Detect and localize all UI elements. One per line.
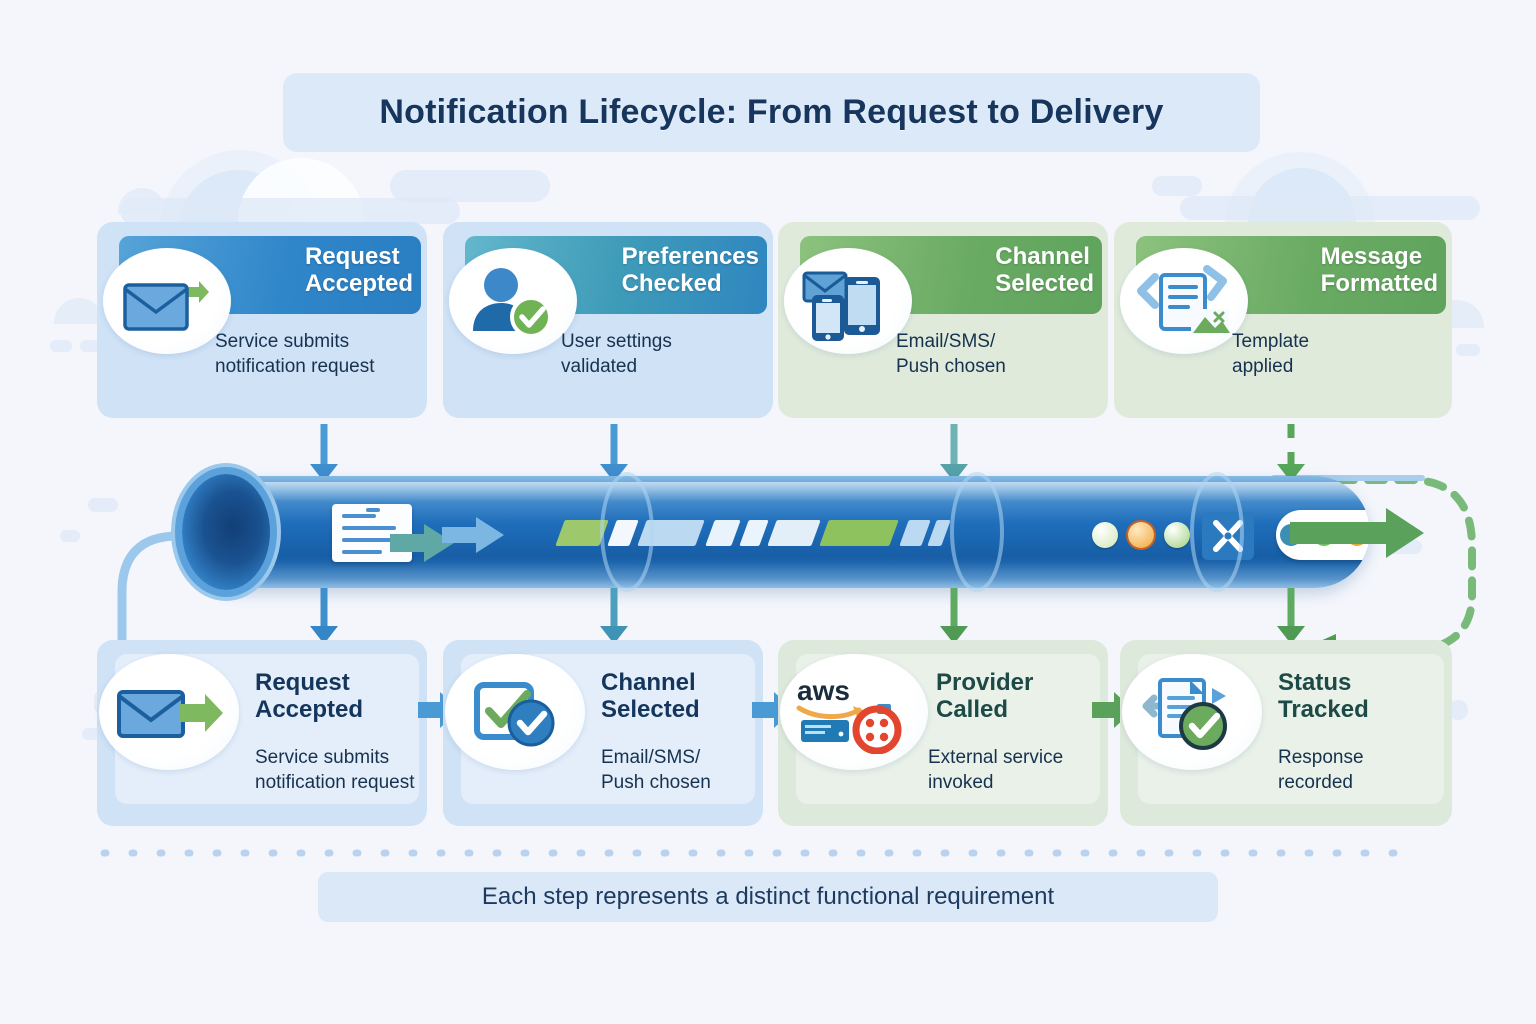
card-subtitle: Email/SMS/ Push chosen xyxy=(601,746,753,795)
card-subtitle: Service submits notification request xyxy=(215,330,415,379)
pipeline-segment xyxy=(705,520,740,546)
forward-arrow-icon xyxy=(442,514,506,556)
envelope-left-arrow-icon xyxy=(103,248,231,354)
pipeline-segment xyxy=(927,520,950,546)
pipeline-segment xyxy=(739,520,768,546)
card-subtitle: Service submits notification request xyxy=(255,746,417,795)
step-card-message-formatted[interactable]: Message Formatted Template applied xyxy=(1114,222,1452,418)
document-image-icon xyxy=(1120,248,1248,354)
card-subtitle: Template applied xyxy=(1232,330,1440,379)
outbound-green-arrow xyxy=(1290,506,1426,560)
pipeline-ring xyxy=(600,472,654,592)
step-card-request-accepted-bottom[interactable]: Request Accepted Service submits notific… xyxy=(97,640,427,826)
pipeline-indicator-dot xyxy=(1164,522,1190,548)
step-card-channel-selected-top[interactable]: Channel Selected Email/SMS/ Push chosen xyxy=(778,222,1108,418)
card-subtitle: Response recorded xyxy=(1278,746,1442,795)
step-card-provider-called[interactable]: aws Provider Called External service inv… xyxy=(778,640,1108,826)
devices-envelope-icon xyxy=(784,248,912,354)
pipeline-segment xyxy=(899,520,930,546)
card-title: Request Accepted xyxy=(255,670,363,724)
card-title: Message Formatted xyxy=(1321,244,1438,298)
card-title: Channel Selected xyxy=(601,670,700,724)
card-title: Request Accepted xyxy=(305,244,413,298)
card-subtitle: Email/SMS/ Push chosen xyxy=(896,330,1096,379)
envelope-right-arrow-icon xyxy=(99,654,239,770)
card-title: Preferences Checked xyxy=(622,244,759,298)
step-card-channel-selected-bottom[interactable]: Channel Selected Email/SMS/ Push chosen xyxy=(443,640,763,826)
pipeline-entry-opening xyxy=(182,474,270,590)
step-card-request-accepted-top[interactable]: Request Accepted Service submits notific… xyxy=(97,222,427,418)
card-title: Status Tracked xyxy=(1278,670,1369,724)
card-title: Channel Selected xyxy=(995,244,1094,298)
connector-pipeline-to-bottom-2 xyxy=(600,588,628,644)
pipeline-ring xyxy=(1190,472,1244,592)
user-check-icon xyxy=(449,248,577,354)
step-card-preferences-checked[interactable]: Preferences Checked User settings valida… xyxy=(443,222,773,418)
card-subtitle: External service invoked xyxy=(928,746,1098,795)
connector-pipeline-to-bottom-3 xyxy=(940,588,968,644)
document-check-icon xyxy=(1122,654,1262,770)
connector-pipeline-to-bottom-1 xyxy=(310,588,338,644)
checkbox-check-badge-icon xyxy=(445,654,585,770)
page-title-text: Notification Lifecycle: From Request to … xyxy=(379,93,1163,132)
pipeline-ring xyxy=(950,472,1004,592)
pipeline-indicator-dot xyxy=(1128,522,1154,548)
pipeline-indicator-dot xyxy=(1092,522,1118,548)
pipeline-segment xyxy=(819,520,898,546)
page-title: Notification Lifecycle: From Request to … xyxy=(283,72,1260,152)
notification-processing-pipeline[interactable] xyxy=(160,472,1420,594)
pipeline-segment xyxy=(767,520,820,546)
aws-twilio-provider-icon: aws xyxy=(780,654,928,770)
connector-pipeline-to-bottom-4 xyxy=(1277,588,1305,644)
card-title: Provider Called xyxy=(936,670,1033,724)
footer-caption-text: Each step represents a distinct function… xyxy=(482,883,1054,911)
card-subtitle: User settings validated xyxy=(561,330,761,379)
step-card-status-tracked[interactable]: Status Tracked Response recorded xyxy=(1120,640,1452,826)
footer-caption: Each step represents a distinct function… xyxy=(318,872,1218,922)
svg-text:aws: aws xyxy=(797,675,850,706)
